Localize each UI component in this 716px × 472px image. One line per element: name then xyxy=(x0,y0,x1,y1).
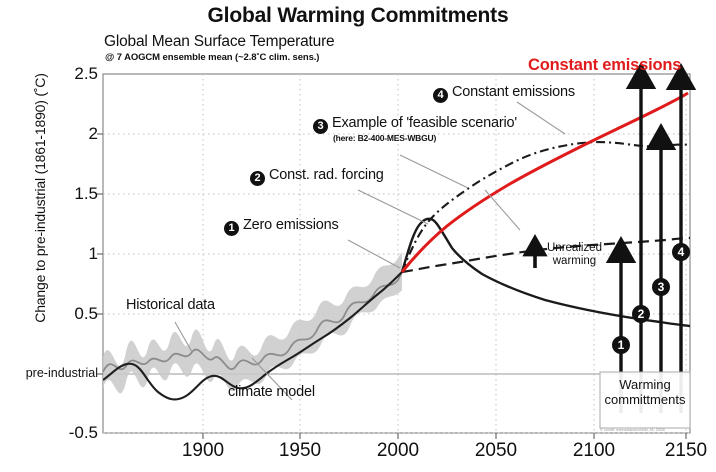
x-tick-marks xyxy=(203,433,686,439)
historical-data-label: Historical data xyxy=(126,297,215,313)
annotation-label-2: Const. rad. forcing xyxy=(269,167,384,183)
y-tick-marks xyxy=(97,134,103,374)
annotation-label-1: Zero emissions xyxy=(243,217,339,233)
annotation-zero-emissions: 1Zero emissions xyxy=(224,217,339,236)
unrealized-warming-label: Unrealized warming xyxy=(547,242,602,268)
warming-commitments-line1: Warming xyxy=(602,378,688,393)
annotation-feasible-scenario-sub: (here: B2-400-MES-WBGU) xyxy=(333,133,436,143)
annotation-feasible-scenario: 3Example of 'feasible scenario' xyxy=(313,115,517,134)
chart-root: Global Warming Commitments Global Mean S… xyxy=(0,0,716,472)
annotation-const-rad-forcing: 2Const. rad. forcing xyxy=(250,167,384,186)
annotation-bullet-4: 4 xyxy=(433,88,448,103)
commitment-arrow-badge-4: 4 xyxy=(672,243,690,261)
commitment-arrow-badge-2: 2 xyxy=(632,305,650,323)
unrealized-warming-line1: Unrealized xyxy=(547,242,602,255)
annotation-constant-emissions: 4Constant emissions xyxy=(433,84,575,103)
credit-text: © credit: meinshausen/wiki, IA, 2008 xyxy=(600,427,665,432)
annotation-label-4: Constant emissions xyxy=(452,84,575,100)
annotation-bullet-3: 3 xyxy=(313,119,328,134)
annotation-bullet-2: 2 xyxy=(250,171,265,186)
warming-commitments-line2: committments xyxy=(602,393,688,408)
climate-model-label: climate model xyxy=(228,384,315,400)
annotation-label-3: Example of 'feasible scenario' xyxy=(332,115,517,131)
warming-commitments-label: Warming committments xyxy=(602,378,688,408)
commitment-arrow-badge-1: 1 xyxy=(612,336,630,354)
annotation-bullet-1: 1 xyxy=(224,221,239,236)
unrealized-warming-line2: warming xyxy=(547,255,602,268)
commitment-arrow-badge-3: 3 xyxy=(652,278,670,296)
red-constant-emissions-label: Constant emissions xyxy=(528,56,681,75)
